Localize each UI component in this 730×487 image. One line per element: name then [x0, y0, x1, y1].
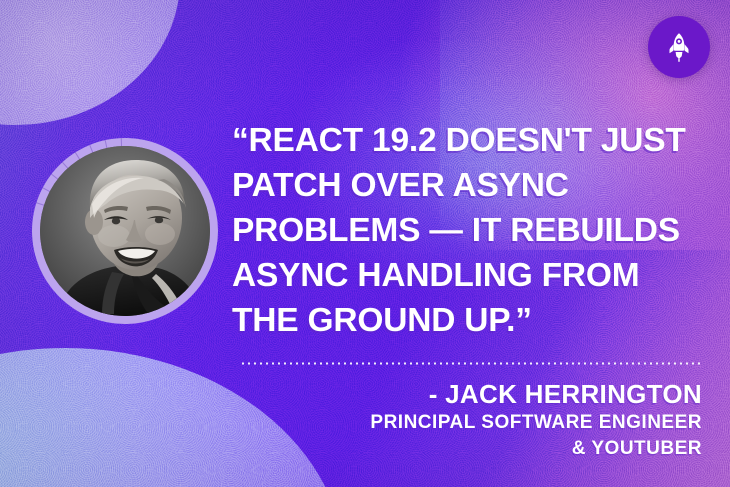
brand-badge: [648, 16, 710, 78]
attribution: - JACK HERRINGTON PRINCIPAL SOFTWARE ENG…: [232, 378, 702, 462]
attribution-role-line-2: & YOUTUBER: [232, 436, 702, 462]
avatar-photo: [40, 146, 210, 316]
attribution-name: - JACK HERRINGTON: [232, 378, 702, 410]
quote-text: “REACT 19.2 DOESN'T JUST PATCH OVER ASYN…: [232, 118, 708, 343]
divider: [240, 362, 702, 365]
attribution-role-line-1: PRINCIPAL SOFTWARE ENGINEER: [232, 410, 702, 436]
rocket-icon: [662, 30, 696, 64]
avatar: [32, 138, 218, 324]
quote-card: “REACT 19.2 DOESN'T JUST PATCH OVER ASYN…: [0, 0, 730, 487]
